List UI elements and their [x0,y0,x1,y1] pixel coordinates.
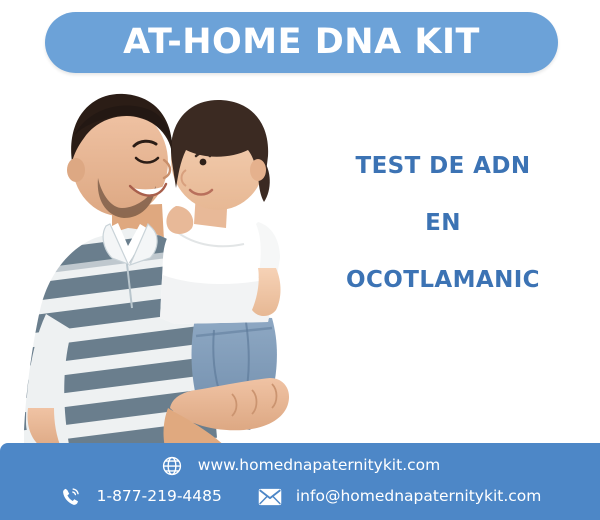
headline-block: TEST DE ADN EN OCOTLAMANIC [318,155,568,292]
contact-email[interactable]: info@homednapaternitykit.com [258,485,542,509]
poster-canvas: AT-HOME DNA KIT [0,0,600,520]
headline-line-2: EN [318,212,568,235]
footer-row-phone-email: 1-877-219-4485 info@homednapaternitykit.… [0,485,600,509]
header-banner: AT-HOME DNA KIT [45,12,558,73]
page-title: AT-HOME DNA KIT [123,25,480,60]
contact-phone[interactable]: 1-877-219-4485 [59,485,222,509]
website-text: www.homednapaternitykit.com [198,458,440,474]
phone-icon [59,485,83,509]
envelope-icon [258,485,282,509]
phone-text: 1-877-219-4485 [97,489,222,505]
hero-photo [0,78,330,458]
globe-icon [160,454,184,478]
headline-line-3: OCOTLAMANIC [318,269,568,292]
email-text: info@homednapaternitykit.com [296,489,542,505]
father-and-child-illustration [0,78,330,458]
headline-line-1: TEST DE ADN [318,155,568,178]
contact-website[interactable]: www.homednapaternitykit.com [160,454,440,478]
footer-bar: www.homednapaternitykit.com 1-877-219-44… [0,443,600,520]
footer-row-website: www.homednapaternitykit.com [0,454,600,478]
